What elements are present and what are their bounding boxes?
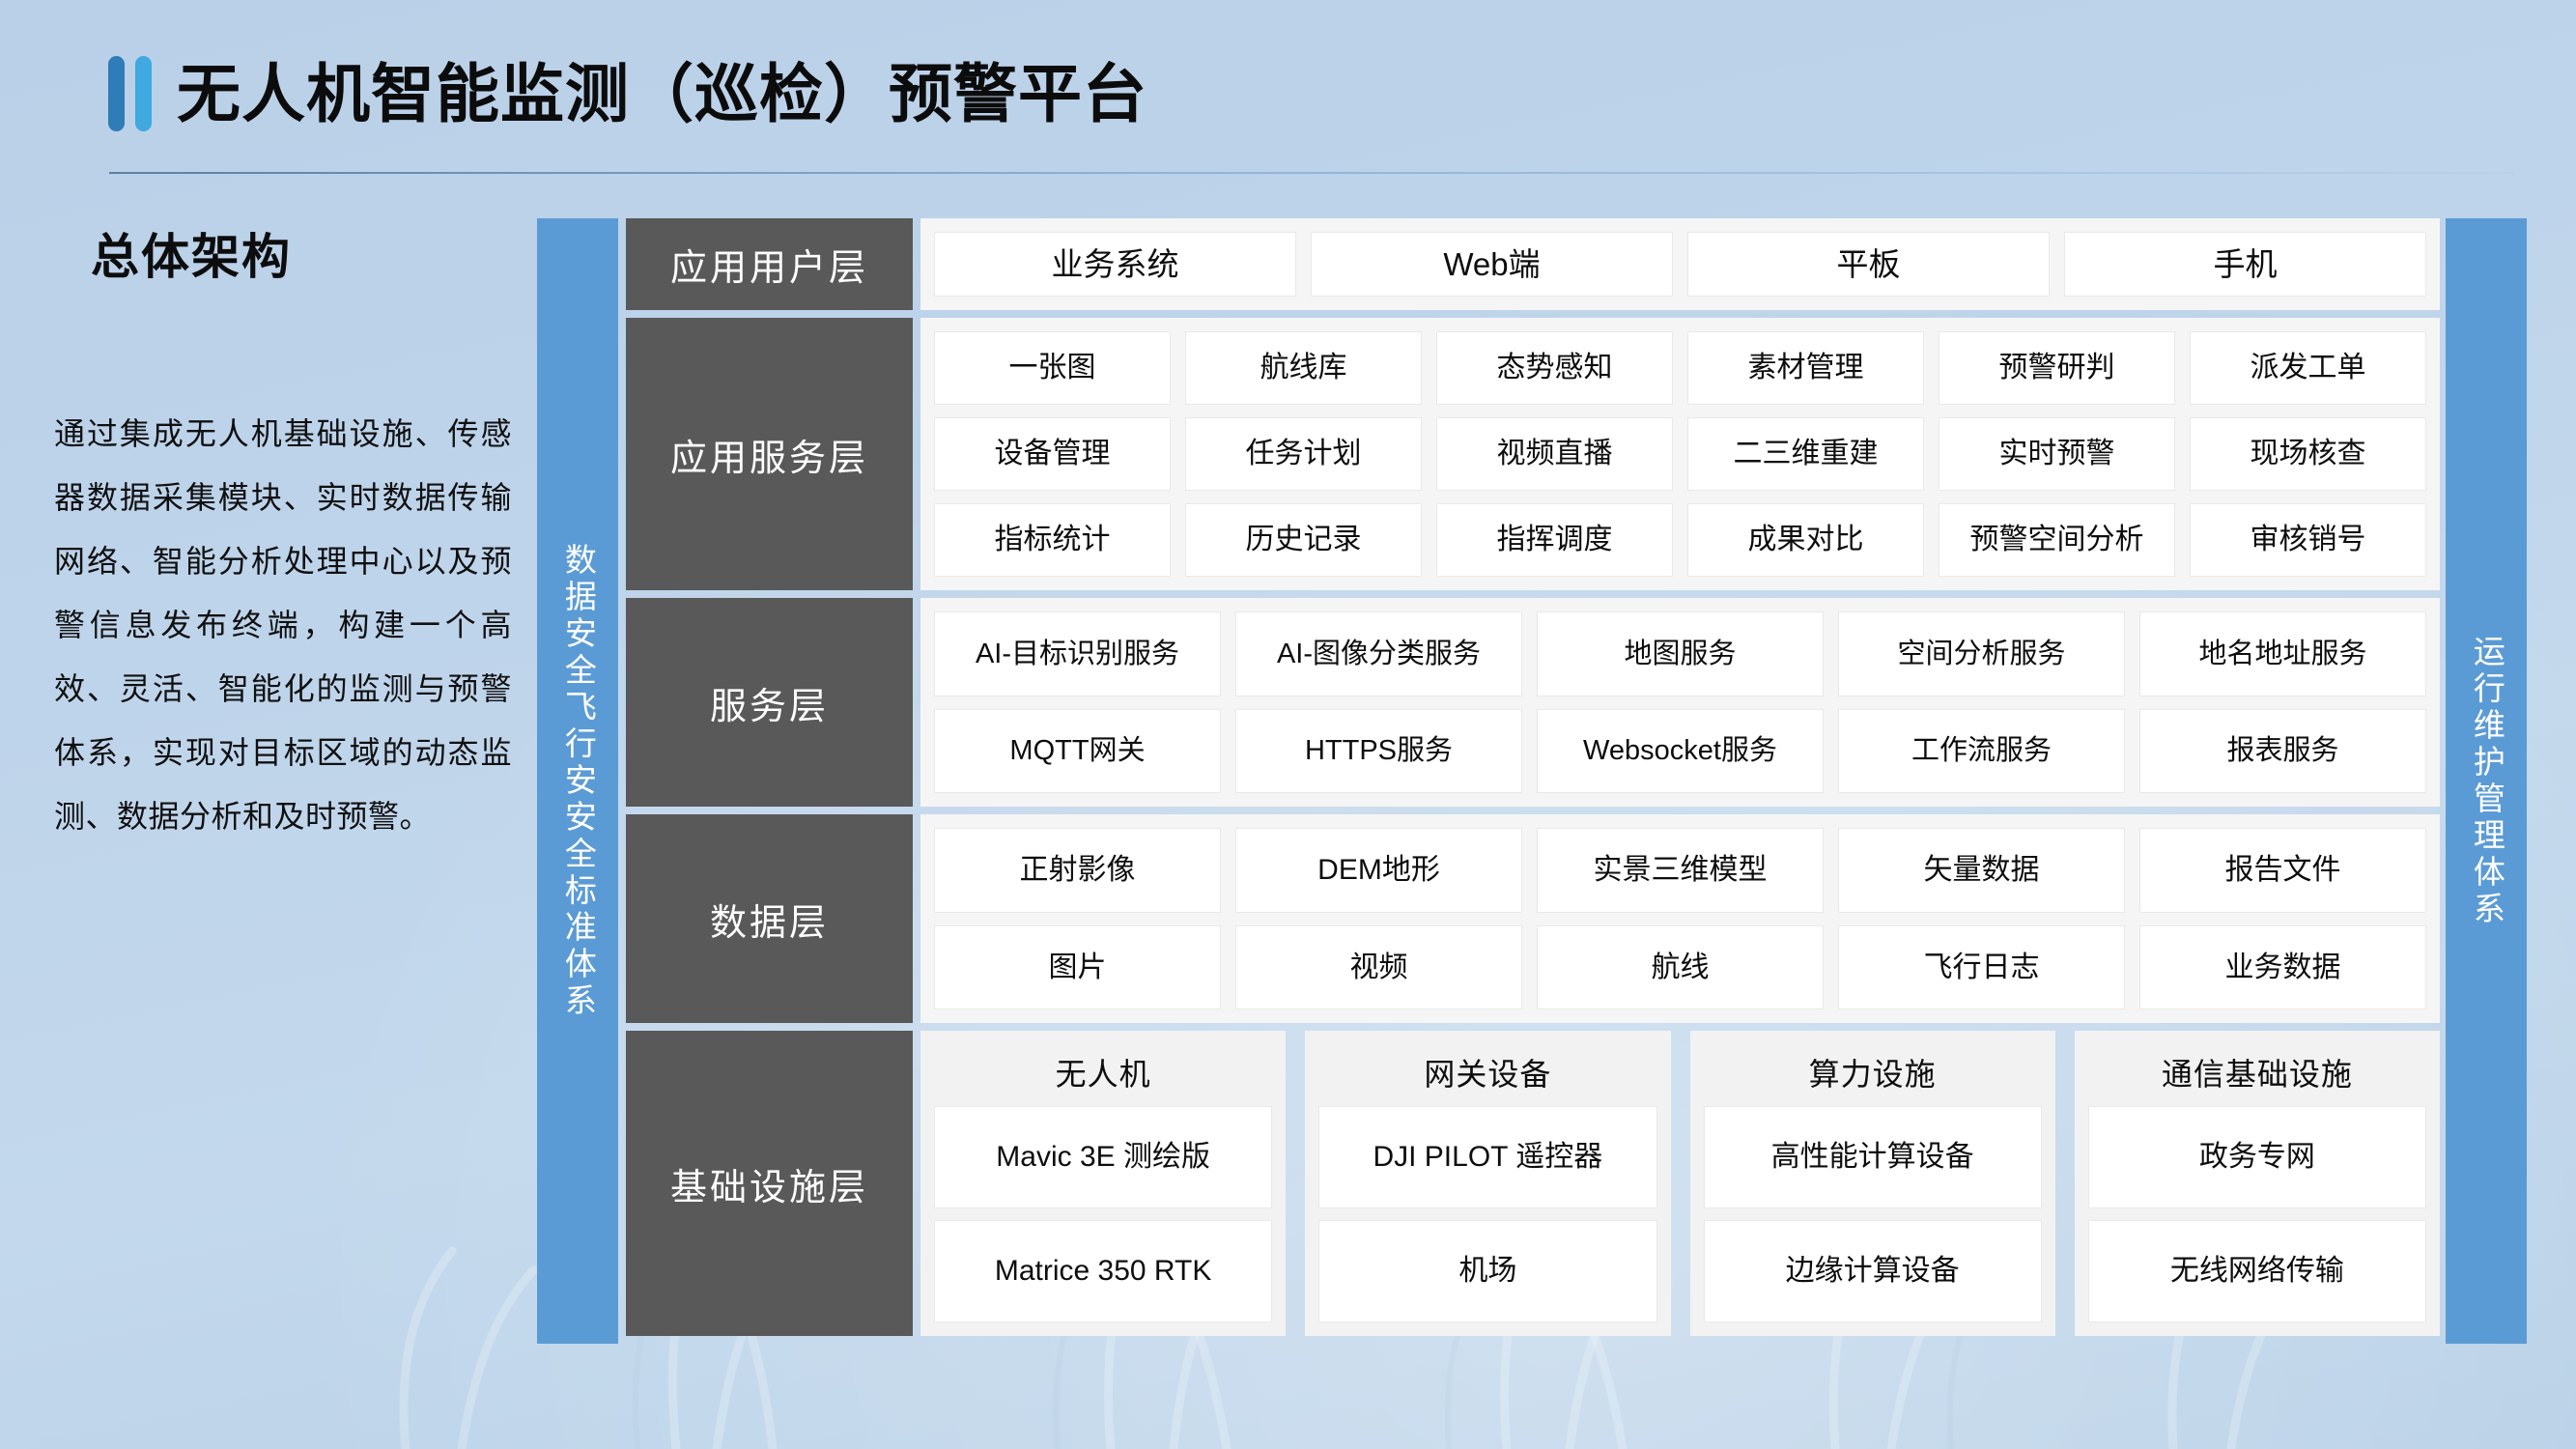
list-item[interactable]: 素材管理 [1687,331,1924,405]
list-item[interactable]: DEM地形 [1235,828,1522,913]
list-item[interactable]: 态势感知 [1436,331,1673,405]
layer-label: 应用用户层 [626,218,913,310]
list-item[interactable]: 现场核查 [2190,417,2426,491]
list-item[interactable]: 矢量数据 [1838,828,2125,913]
layer-label: 服务层 [626,598,913,807]
list-item[interactable]: HTTPS服务 [1235,709,1522,794]
list-item[interactable]: 业务数据 [2139,925,2426,1010]
list-item[interactable]: 指标统计 [934,503,1171,577]
list-item[interactable]: 工作流服务 [1838,709,2125,794]
list-item[interactable]: 报告文件 [2139,828,2426,913]
group-items: 高性能计算设备 边缘计算设备 [1704,1106,2042,1322]
group-items: Mavic 3E 测绘版 Matrice 350 RTK [934,1106,1272,1322]
list-item[interactable]: 无线网络传输 [2088,1220,2426,1322]
list-item[interactable]: 业务系统 [934,232,1296,297]
group-header: 算力设施 [1704,1040,2042,1106]
layer-label: 基础设施层 [626,1031,913,1336]
layer-body: AI-目标识别服务 AI-图像分类服务 地图服务 空间分析服务 地名地址服务 M… [920,598,2440,807]
list-item[interactable]: 二三维重建 [1687,417,1924,491]
list-item[interactable]: 预警空间分析 [1939,503,2175,577]
list-item[interactable]: 历史记录 [1185,503,1422,577]
group-header: 通信基础设施 [2088,1040,2426,1106]
page-header: 无人机智能监测（巡检）预警平台 [0,0,2576,208]
list-item[interactable]: MQTT网关 [934,709,1221,794]
list-item[interactable]: 政务专网 [2088,1106,2426,1208]
layer-row: 图片 视频 航线 飞行日志 业务数据 [934,925,2426,1010]
layer-row: 指标统计 历史记录 指挥调度 成果对比 预警空间分析 审核销号 [934,503,2426,577]
list-item[interactable]: 审核销号 [2190,503,2426,577]
layer-row: 业务系统 Web端 平板 手机 [934,232,2426,297]
list-item[interactable]: 成果对比 [1687,503,1924,577]
layer-label: 应用服务层 [626,318,913,590]
page-title: 无人机智能监测（巡检）预警平台 [177,62,1147,126]
layer-row: 设备管理 任务计划 视频直播 二三维重建 实时预警 现场核查 [934,417,2426,491]
list-item[interactable]: Mavic 3E 测绘版 [934,1106,1272,1208]
list-item[interactable]: 报表服务 [2139,709,2426,794]
layer-row: 正射影像 DEM地形 实景三维模型 矢量数据 报告文件 [934,828,2426,913]
list-item[interactable]: Websocket服务 [1537,709,1824,794]
list-item[interactable]: 机场 [1318,1220,1656,1322]
title-row: 无人机智能监测（巡检）预警平台 [108,56,1147,131]
left-vertical-band: 数据安全飞行安安全标准体系 [537,218,618,1344]
layer-service: 服务层 AI-目标识别服务 AI-图像分类服务 地图服务 空间分析服务 地名地址… [626,598,2440,807]
list-item[interactable]: 边缘计算设备 [1704,1220,2042,1322]
layer-body: 一张图 航线库 态势感知 素材管理 预警研判 派发工单 设备管理 任务计划 视频… [920,318,2440,590]
section-description: 通过集成无人机基础设施、传感器数据采集模块、实时数据传输网络、智能分析处理中心以… [54,402,512,848]
list-item[interactable]: 设备管理 [934,417,1171,491]
list-item[interactable]: 图片 [934,925,1221,1010]
list-item[interactable]: AI-目标识别服务 [934,611,1221,696]
layer-body: 业务系统 Web端 平板 手机 [920,218,2440,310]
list-item[interactable]: 派发工单 [2190,331,2426,405]
list-item[interactable]: 预警研判 [1939,331,2175,405]
infrastructure-group: 通信基础设施 政务专网 无线网络传输 [2075,1031,2440,1336]
list-item[interactable]: 正射影像 [934,828,1221,913]
list-item[interactable]: 实时预警 [1939,417,2175,491]
list-item[interactable]: Matrice 350 RTK [934,1220,1272,1322]
group-header: 网关设备 [1318,1040,1656,1106]
layer-infrastructure: 基础设施层 无人机 Mavic 3E 测绘版 Matrice 350 RTK 网… [626,1031,2440,1336]
list-item[interactable]: 一张图 [934,331,1171,405]
infrastructure-groups: 无人机 Mavic 3E 测绘版 Matrice 350 RTK 网关设备 DJ… [920,1031,2440,1336]
architecture-diagram: 数据安全飞行安安全标准体系 应用用户层 业务系统 Web端 平板 手机 应用服务… [537,218,2527,1344]
layer-row: AI-目标识别服务 AI-图像分类服务 地图服务 空间分析服务 地名地址服务 [934,611,2426,696]
group-items: DJI PILOT 遥控器 机场 [1318,1106,1656,1322]
infrastructure-group: 网关设备 DJI PILOT 遥控器 机场 [1305,1031,1670,1336]
group-items: 政务专网 无线网络传输 [2088,1106,2426,1322]
layer-application-user: 应用用户层 业务系统 Web端 平板 手机 [626,218,2440,310]
list-item[interactable]: 视频直播 [1436,417,1673,491]
layer-data: 数据层 正射影像 DEM地形 实景三维模型 矢量数据 报告文件 图片 视频 航线… [626,814,2440,1023]
list-item[interactable]: 任务计划 [1185,417,1422,491]
left-column: 总体架构 通过集成无人机基础设施、传感器数据采集模块、实时数据传输网络、智能分析… [52,218,535,848]
list-item[interactable]: 指挥调度 [1436,503,1673,577]
list-item[interactable]: AI-图像分类服务 [1235,611,1522,696]
layer-row: 一张图 航线库 态势感知 素材管理 预警研判 派发工单 [934,331,2426,405]
section-title: 总体架构 [91,218,535,288]
accent-bars-icon [108,56,152,131]
list-item[interactable]: 空间分析服务 [1838,611,2125,696]
list-item[interactable]: 地图服务 [1537,611,1824,696]
list-item[interactable]: 视频 [1235,925,1522,1010]
list-item[interactable]: 高性能计算设备 [1704,1106,2042,1208]
infrastructure-group: 算力设施 高性能计算设备 边缘计算设备 [1690,1031,2055,1336]
layer-stack: 应用用户层 业务系统 Web端 平板 手机 应用服务层 一张图 航线库 态势感知… [626,218,2440,1344]
header-divider [109,172,2514,174]
list-item[interactable]: 平板 [1687,232,2050,297]
layer-body: 正射影像 DEM地形 实景三维模型 矢量数据 报告文件 图片 视频 航线 飞行日… [920,814,2440,1023]
layer-label: 数据层 [626,814,913,1023]
list-item[interactable]: 实景三维模型 [1537,828,1824,913]
right-vertical-band: 运行维护管理体系 [2446,218,2527,1344]
left-vertical-band-label: 数据安全飞行安安全标准体系 [555,543,601,1020]
list-item[interactable]: DJI PILOT 遥控器 [1318,1106,1656,1208]
list-item[interactable]: Web端 [1311,232,1673,297]
list-item[interactable]: 地名地址服务 [2139,611,2426,696]
group-header: 无人机 [934,1040,1272,1106]
layer-application-service: 应用服务层 一张图 航线库 态势感知 素材管理 预警研判 派发工单 设备管理 任… [626,318,2440,590]
list-item[interactable]: 航线库 [1185,331,1422,405]
list-item[interactable]: 手机 [2064,232,2426,297]
right-vertical-band-label: 运行维护管理体系 [2464,635,2509,928]
layer-row: MQTT网关 HTTPS服务 Websocket服务 工作流服务 报表服务 [934,709,2426,794]
infrastructure-group: 无人机 Mavic 3E 测绘版 Matrice 350 RTK [920,1031,1286,1336]
list-item[interactable]: 航线 [1537,925,1824,1010]
list-item[interactable]: 飞行日志 [1838,925,2125,1010]
